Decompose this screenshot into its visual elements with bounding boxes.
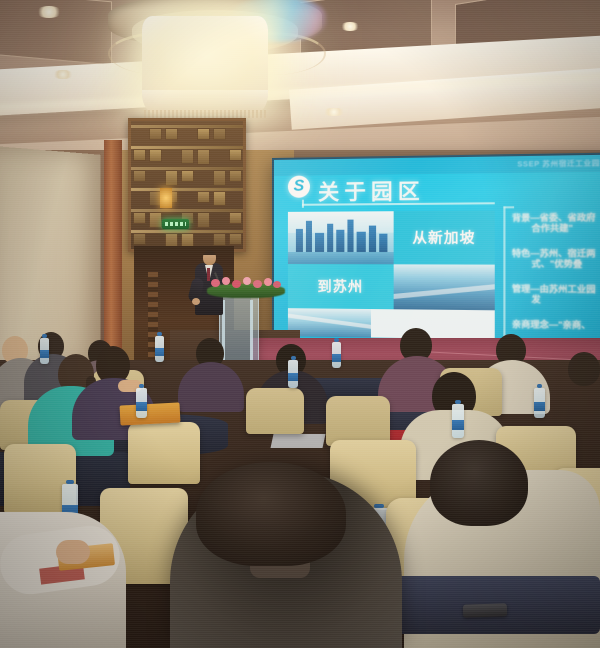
laptop xyxy=(271,434,326,448)
lattice-cell xyxy=(133,233,146,245)
exit-sign xyxy=(162,219,189,229)
floral-arrangement xyxy=(207,275,285,297)
lattice-cell xyxy=(197,191,210,203)
water-bottle xyxy=(332,342,341,368)
lattice-cell xyxy=(133,149,146,161)
downlight-icon xyxy=(340,22,360,31)
lattice-cell xyxy=(229,170,242,182)
projection-screen-frame: SSEP 苏州宿迁工业园区 S 关于园区 xyxy=(272,152,600,345)
lattice-cell xyxy=(213,233,226,246)
lattice-cell xyxy=(213,128,226,140)
lattice-cell xyxy=(197,212,210,228)
water-bottle xyxy=(452,404,464,438)
lattice-cell xyxy=(133,212,146,224)
lattice-cell xyxy=(149,128,162,140)
lattice-cell xyxy=(149,149,162,162)
exit-sign-glyph xyxy=(165,222,186,226)
downlight-icon xyxy=(52,70,74,79)
projection-screen: SSEP 苏州宿迁工业园区 S 关于园区 xyxy=(274,155,600,344)
downlight-icon xyxy=(36,6,62,18)
water-bottle xyxy=(534,388,545,418)
wood-lattice-panel xyxy=(128,118,246,252)
lattice-cell xyxy=(149,212,162,228)
screen-sheen xyxy=(274,155,600,344)
chair xyxy=(326,396,390,446)
smartphone xyxy=(463,603,507,618)
water-bottle xyxy=(155,336,164,362)
water-bottle xyxy=(136,388,147,418)
speaker-head xyxy=(203,250,216,265)
speaker-hand xyxy=(192,298,200,305)
conference-hall-photo: SSEP 苏州宿迁工业园区 S 关于园区 xyxy=(0,0,600,648)
audience-head xyxy=(568,352,600,386)
chair xyxy=(246,388,304,434)
chandelier xyxy=(100,0,330,124)
lattice-cell xyxy=(229,233,242,245)
lattice-bar xyxy=(131,125,243,128)
lattice-cell xyxy=(229,149,242,161)
chandelier-glow xyxy=(130,0,280,120)
water-bottle xyxy=(40,338,49,364)
lattice-cell xyxy=(181,170,194,182)
lattice-bar xyxy=(131,188,243,191)
document-folder xyxy=(120,402,181,425)
lattice-cell xyxy=(165,128,178,140)
lattice-cell xyxy=(197,149,210,165)
lattice-amber-light xyxy=(160,188,172,208)
lattice-cell xyxy=(165,170,178,186)
lattice-cell xyxy=(181,149,194,164)
foreground-hand xyxy=(56,540,90,564)
lectern-post xyxy=(250,300,253,362)
foreground-head-center xyxy=(196,462,346,566)
water-bottle xyxy=(288,360,298,388)
lattice-cell xyxy=(213,170,226,186)
foreground-head-right xyxy=(430,440,528,526)
chair xyxy=(128,422,200,484)
lattice-cell xyxy=(213,191,226,206)
lectern xyxy=(219,288,259,364)
lattice-cell xyxy=(197,128,210,140)
lattice-cell xyxy=(133,170,146,182)
lattice-cell xyxy=(229,212,242,224)
